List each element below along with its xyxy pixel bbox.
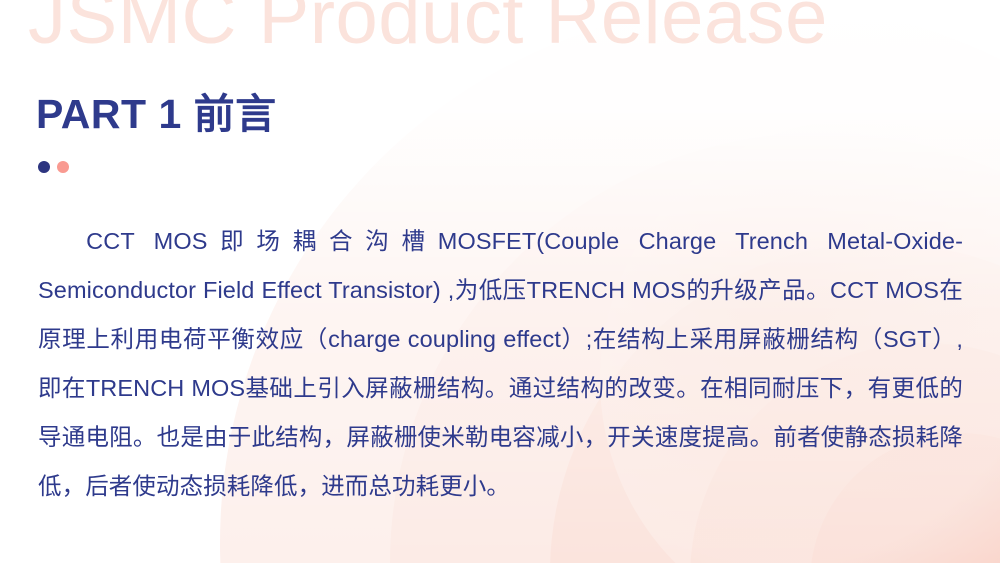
watermark-title: JSMC Product Release (28, 0, 828, 56)
page-title: PART 1 前言 (36, 92, 277, 137)
dot-divider (38, 161, 69, 173)
slide-root: JSMC Product Release PART 1 前言 CCT MOS即场… (0, 0, 1000, 563)
navy-dot-icon (38, 161, 50, 173)
body-paragraph: CCT MOS即场耦合沟槽MOSFET(Couple Charge Trench… (38, 217, 963, 511)
salmon-dot-icon (57, 161, 69, 173)
